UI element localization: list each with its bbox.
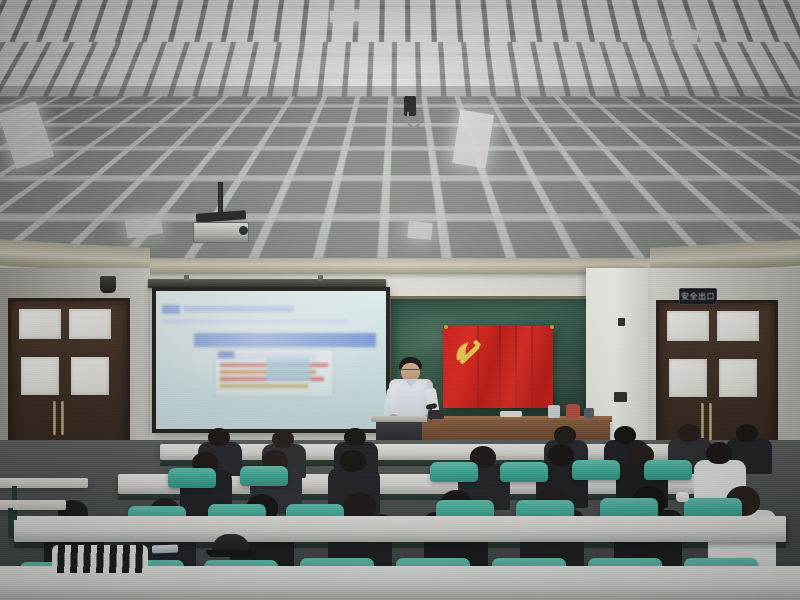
ceiling-hook-icon (407, 112, 421, 128)
slide-table-cell (218, 351, 234, 358)
student-head (272, 430, 294, 448)
slide-bar (194, 333, 376, 347)
projector-lens-icon (239, 226, 248, 235)
seat[interactable] (500, 462, 548, 482)
student-head (678, 424, 700, 442)
exit-sign-label: 安全出口 (681, 293, 715, 301)
student-head (548, 444, 574, 466)
projection-screen (152, 287, 390, 433)
student-head (340, 450, 366, 472)
lecture-hall-photo: 安全出口 (0, 0, 800, 600)
wall-switch-icon[interactable] (618, 318, 625, 326)
student-head (554, 426, 576, 444)
slide-table-cell (266, 359, 310, 381)
wall-speaker-icon (100, 276, 116, 293)
lecturer-glasses-icon (402, 369, 419, 373)
student-head (736, 424, 758, 442)
desk-object (584, 408, 594, 418)
student-head (614, 426, 636, 444)
slide-bar (162, 319, 348, 324)
wall-outlet-icon[interactable] (614, 392, 627, 402)
desk-object (566, 404, 580, 418)
podium-top (371, 416, 427, 422)
ceiling-panel-light (330, 9, 361, 23)
seat[interactable] (168, 468, 216, 488)
desk-object (428, 410, 444, 419)
desk-paper (500, 411, 522, 417)
ceiling-coffer-band-mid (0, 42, 800, 96)
student-head (208, 428, 230, 446)
baseball-cap-brim (206, 550, 256, 557)
seat[interactable] (430, 462, 478, 482)
student-head (344, 428, 366, 446)
seat[interactable] (240, 466, 288, 486)
smartphone-on-desk (152, 545, 178, 554)
seat[interactable] (644, 460, 692, 480)
desk-cup (548, 405, 560, 418)
slide-bar (184, 306, 294, 312)
student-desk (14, 516, 786, 542)
face-mask-icon (676, 492, 689, 502)
slide-table-cell (220, 384, 308, 388)
slide-content (156, 291, 386, 429)
exit-sign: 安全出口 (679, 288, 717, 305)
student-head (706, 442, 732, 464)
slide-bar (162, 305, 180, 314)
party-flag (443, 326, 553, 408)
ceiling (0, 0, 800, 268)
striped-sweater (52, 545, 148, 573)
ceiling-panel-light (407, 221, 432, 240)
hammer-and-sickle-icon (451, 336, 485, 370)
seat[interactable] (572, 460, 620, 480)
